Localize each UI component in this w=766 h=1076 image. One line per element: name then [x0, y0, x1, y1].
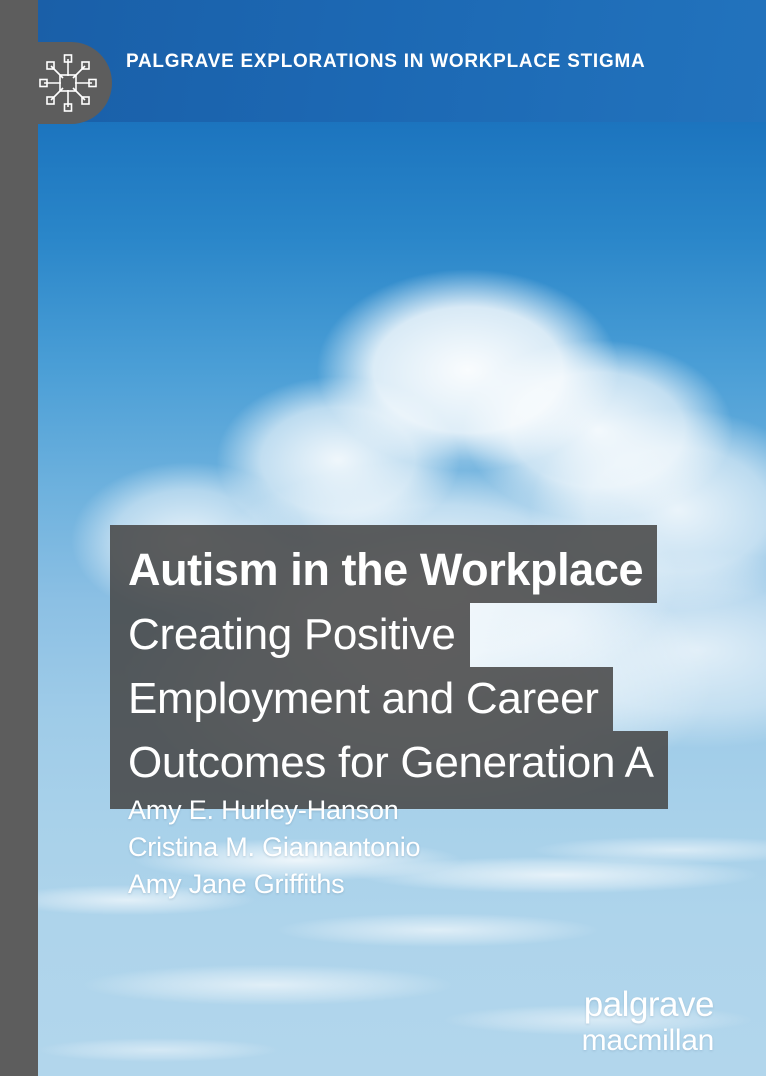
- palgrave-network-node-icon: [34, 49, 102, 117]
- book-subtitle-line-2: Employment and Career: [110, 667, 613, 731]
- title-block: Autism in the Workplace Creating Positiv…: [110, 525, 668, 809]
- author-name: Cristina M. Giannantonio: [128, 829, 420, 866]
- author-list: Amy E. Hurley-Hanson Cristina M. Giannan…: [128, 792, 420, 903]
- book-cover: PALGRAVE EXPLORATIONS IN WORKPLACE STIGM…: [0, 0, 766, 1076]
- author-name: Amy E. Hurley-Hanson: [128, 792, 420, 829]
- book-subtitle-line-1: Creating Positive: [110, 603, 470, 667]
- series-title: PALGRAVE EXPLORATIONS IN WORKPLACE STIGM…: [126, 0, 645, 122]
- spine-band: [0, 0, 38, 1076]
- author-name: Amy Jane Griffiths: [128, 866, 420, 903]
- book-title: Autism in the Workplace: [110, 525, 657, 603]
- publisher-name-secondary: macmillan: [582, 1024, 714, 1058]
- publisher-logo: palgrave macmillan: [582, 986, 714, 1058]
- publisher-name-primary: palgrave: [582, 986, 714, 1024]
